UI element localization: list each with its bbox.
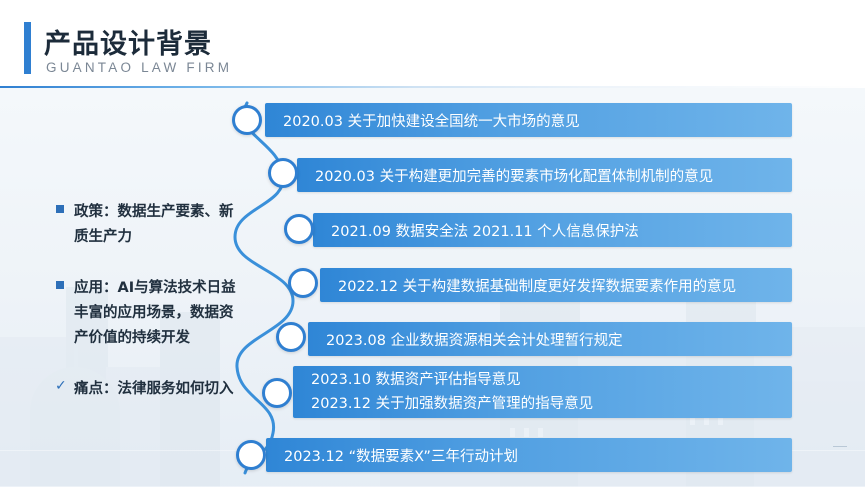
timeline-node bbox=[232, 105, 262, 135]
timeline-node bbox=[284, 214, 314, 244]
timeline-item-label: 2022.12 关于构建数据基础制度更好发挥数据要素作用的意见 bbox=[320, 275, 736, 296]
square-bullet-icon bbox=[56, 205, 64, 213]
timeline-item: 2022.12 关于构建数据基础制度更好发挥数据要素作用的意见 bbox=[320, 268, 792, 302]
timeline-item-label: 2020.03 关于加快建设全国统一大市场的意见 bbox=[265, 110, 580, 131]
timeline-item: 2023.12 “数据要素X”三年行动计划 bbox=[266, 438, 792, 472]
timeline-node bbox=[276, 322, 306, 352]
timeline-item: 2020.03 关于构建更加完善的要素市场化配置体制机制的意见 bbox=[297, 158, 792, 192]
timeline-node bbox=[268, 158, 298, 188]
title-accent-bar bbox=[24, 22, 31, 74]
timeline-node bbox=[262, 378, 292, 408]
timeline-item-label: 2023.12 “数据要素X”三年行动计划 bbox=[266, 445, 518, 466]
page-corner-mark bbox=[833, 446, 847, 447]
square-bullet-icon bbox=[56, 281, 64, 289]
timeline-item: 2023.08 企业数据资源相关会计处理暂行规定 bbox=[308, 322, 792, 356]
timeline-node bbox=[236, 440, 266, 470]
timeline-item-label: 2021.09 数据安全法 2021.11 个人信息保护法 bbox=[313, 220, 639, 241]
timeline-item: 2021.09 数据安全法 2021.11 个人信息保护法 bbox=[313, 213, 792, 247]
check-bullet-icon: ✓ bbox=[55, 378, 63, 386]
firm-name: GUANTAO LAW FIRM bbox=[46, 60, 232, 75]
slide-canvas: 产品设计背景 GUANTAO LAW FIRM 政策：数据生产要素、新质生产力 … bbox=[0, 0, 865, 487]
timeline-item-label: 2023.10 数据资产评估指导意见 bbox=[293, 368, 521, 392]
timeline-item-label: 2020.03 关于构建更加完善的要素市场化配置体制机制的意见 bbox=[297, 165, 713, 186]
header-divider bbox=[0, 86, 865, 88]
timeline-item-label: 2023.08 企业数据资源相关会计处理暂行规定 bbox=[308, 329, 623, 350]
timeline-item: 2020.03 关于加快建设全国统一大市场的意见 bbox=[265, 103, 792, 137]
timeline-item-label: 2023.12 关于加强数据资产管理的指导意见 bbox=[293, 392, 593, 416]
timeline-node bbox=[288, 268, 318, 298]
timeline-item: 2023.10 数据资产评估指导意见 2023.12 关于加强数据资产管理的指导… bbox=[293, 366, 792, 418]
page-title: 产品设计背景 bbox=[44, 22, 212, 61]
